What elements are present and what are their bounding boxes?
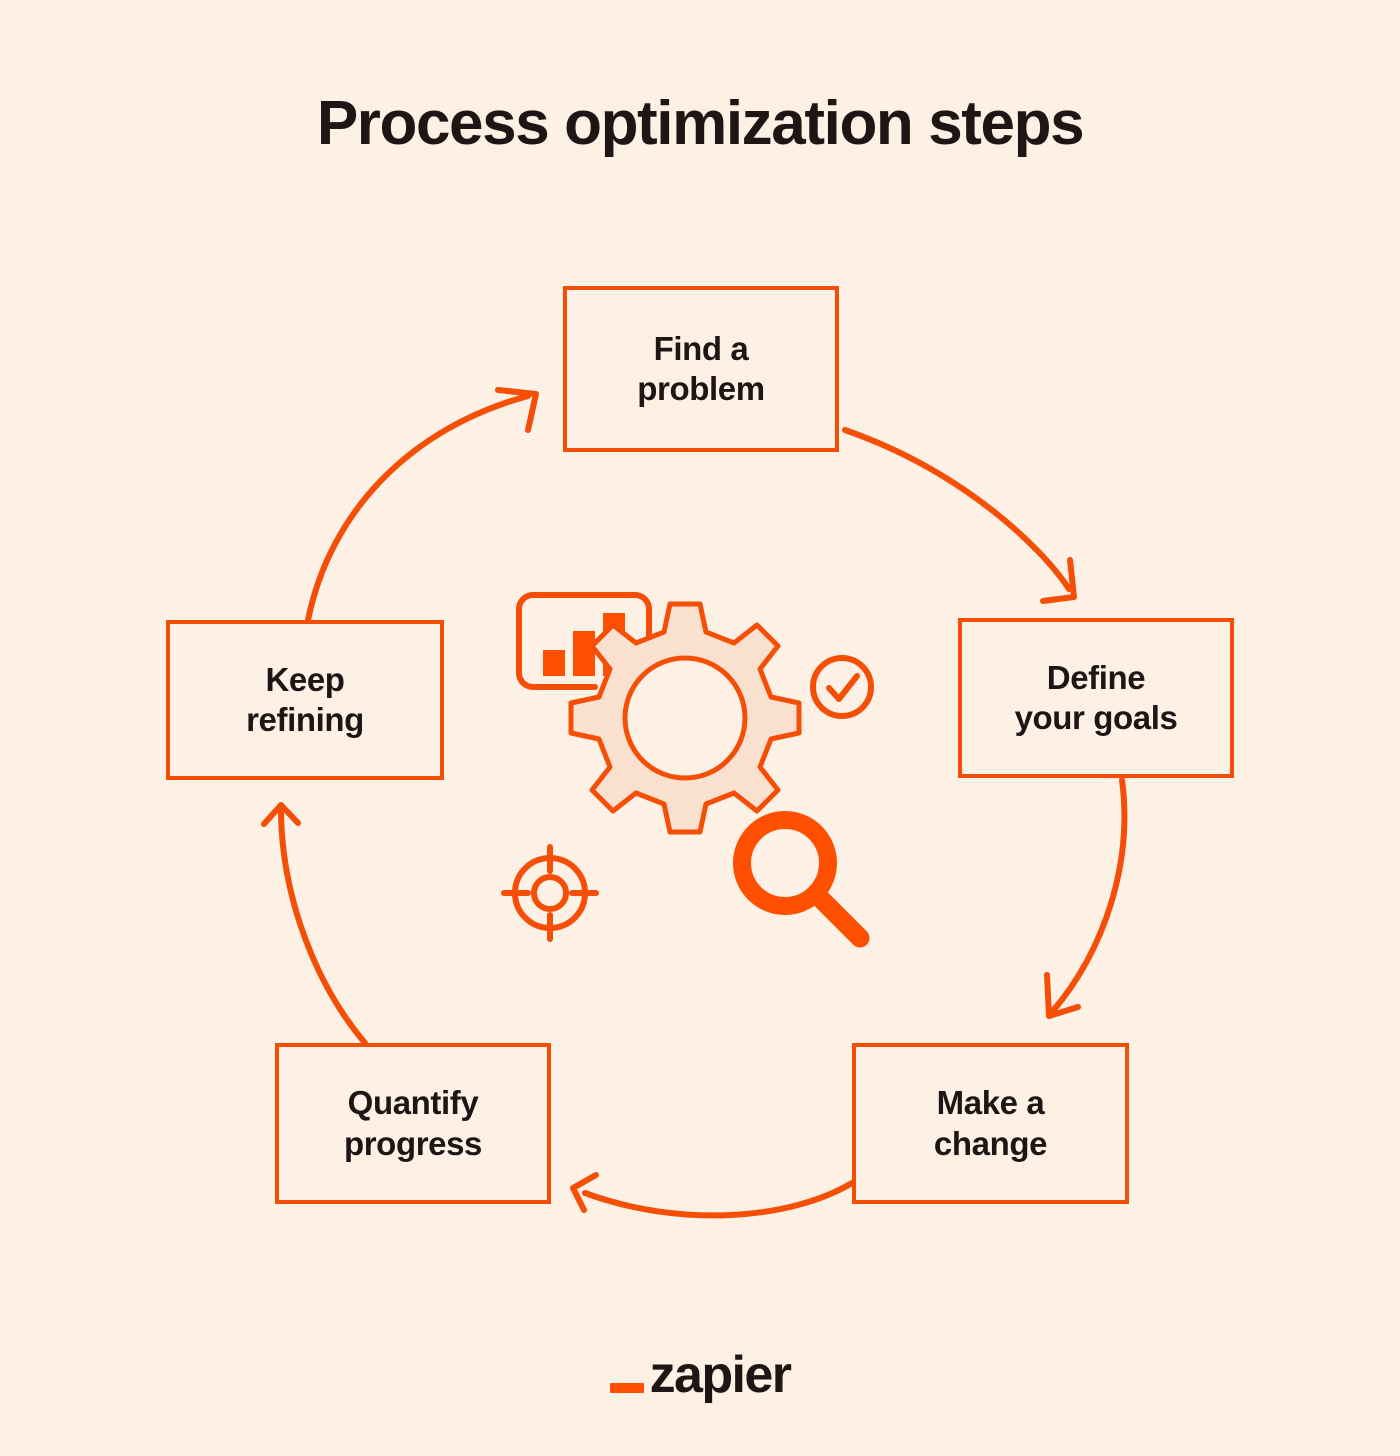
step-box-keep-refining[interactable]: Keep refining xyxy=(166,620,444,780)
zapier-wordmark: zapier xyxy=(650,1345,791,1405)
arrow-define-goals-to-make-change xyxy=(1047,780,1124,1016)
zapier-logo: zapier xyxy=(0,1345,1400,1405)
step-box-find-problem[interactable]: Find a problem xyxy=(563,286,839,452)
step-label-keep-refining: Keep refining xyxy=(246,660,364,741)
arrow-make-change-to-quantify xyxy=(573,1175,852,1215)
step-label-quantify-progress: Quantify progress xyxy=(344,1083,482,1164)
step-label-find-problem: Find a problem xyxy=(637,329,764,410)
zapier-underscore-icon xyxy=(610,1383,644,1393)
step-label-define-goals: Define your goals xyxy=(1015,658,1178,739)
cycle-diagram: Find a problem Define your goals Make a … xyxy=(0,0,1400,1456)
target-icon xyxy=(504,847,596,939)
center-illustration xyxy=(495,575,895,965)
arrow-quantify-to-keep-refining xyxy=(264,805,365,1043)
step-box-define-goals[interactable]: Define your goals xyxy=(958,618,1234,778)
step-label-make-change: Make a change xyxy=(934,1083,1047,1164)
bar-1 xyxy=(543,650,565,676)
bar-2 xyxy=(573,631,595,676)
gear-icon xyxy=(571,604,799,832)
step-box-make-change[interactable]: Make a change xyxy=(852,1043,1129,1204)
check-circle-icon xyxy=(813,658,871,716)
step-box-quantify-progress[interactable]: Quantify progress xyxy=(275,1043,551,1204)
infographic-canvas: Process optimization steps xyxy=(0,0,1400,1456)
magnifier-icon xyxy=(742,820,860,938)
